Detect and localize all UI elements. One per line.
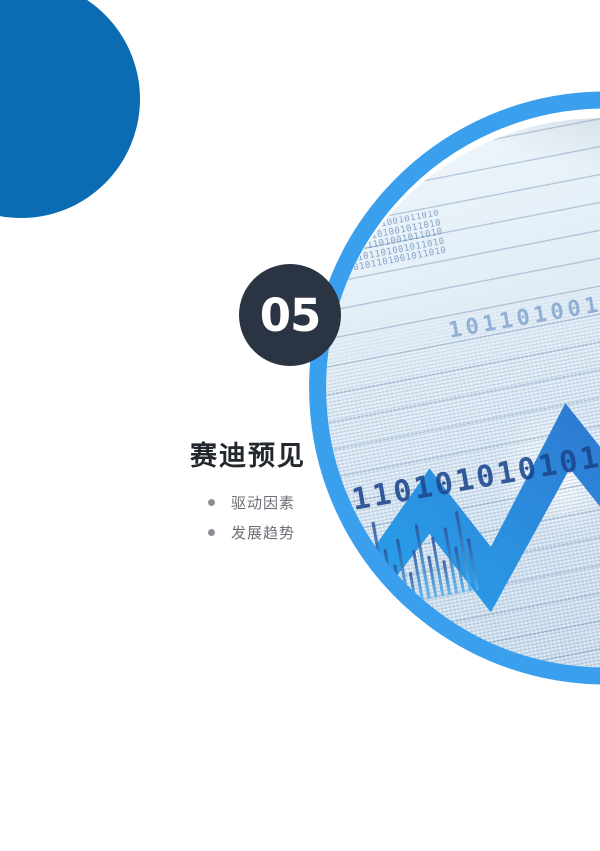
slide-canvas: 0101101001011010010110100101101001011010…	[0, 0, 600, 851]
list-item: 发展趋势	[208, 517, 295, 547]
blue-circle-decoration	[0, 0, 140, 218]
list-item-label: 驱动因素	[231, 492, 295, 513]
list-item: 驱动因素	[208, 487, 295, 517]
bullet-dot-icon	[208, 529, 215, 536]
section-photo: 0101101001011010010110100101101001011010…	[321, 118, 600, 680]
chart-bar	[409, 572, 417, 601]
section-number-text: 05	[260, 293, 321, 338]
section-number-badge: 05	[239, 264, 341, 366]
list-item-label: 发展趋势	[231, 522, 295, 543]
bullet-list: 驱动因素 发展趋势	[208, 487, 295, 547]
bullet-dot-icon	[208, 499, 215, 506]
page-title: 赛迪预见	[190, 434, 306, 473]
